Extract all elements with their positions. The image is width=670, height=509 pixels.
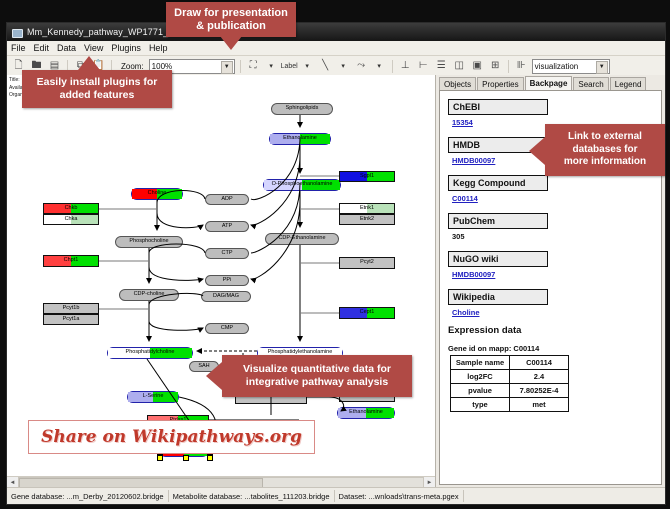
table-row: log2FC2.4: [451, 370, 569, 384]
callout-line: added features: [60, 89, 135, 102]
menu-item-view[interactable]: View: [84, 43, 103, 53]
pathway-edges: [7, 75, 435, 477]
menu-item-help[interactable]: Help: [149, 43, 168, 53]
callout-line: databases for: [572, 144, 637, 157]
align-left-icon[interactable]: ⊢: [416, 59, 431, 74]
share-text: Share on Wikipathways.org: [41, 427, 302, 447]
expression-value: 7.80252E-4: [510, 384, 569, 398]
gene-id-label: Gene id on mapp: C00114: [448, 344, 661, 353]
node-label: L-Serine: [143, 394, 164, 400]
node-label: CDP-Ethanolamine: [278, 236, 325, 242]
callout-link-arrow-icon: [529, 137, 545, 165]
callout-share-on-wikipathways: Share on Wikipathways.org: [28, 420, 315, 454]
expression-value: met: [510, 398, 569, 412]
menu-item-plugins[interactable]: Plugins: [111, 43, 141, 53]
callout-line: Draw for presentation: [174, 7, 288, 20]
node-label: DAG/MAG: [213, 294, 239, 300]
status-metabolite-database: Metabolite database: ...tabolites_111203…: [169, 490, 335, 502]
callout-line: Link to external: [568, 131, 642, 144]
node-label: Etnk2: [360, 217, 374, 223]
toolbar-separator-4: [392, 60, 393, 73]
callout-plugins-arrow-icon: [78, 56, 100, 70]
node-label: Phosphatidylcholine: [126, 350, 175, 356]
node-label: PPi: [223, 278, 232, 284]
node-label: Cept1: [360, 310, 375, 316]
datanode-icon[interactable]: ⛶: [246, 59, 261, 74]
database-value-wikipedia[interactable]: Choline: [452, 308, 661, 317]
callout-draw-for-presentation: Draw for presentation& publication: [166, 2, 296, 37]
visualization-value: visualization: [535, 62, 579, 71]
tab-search[interactable]: Search: [573, 77, 608, 90]
database-header-kegg-compound: Kegg Compound: [448, 175, 548, 191]
node-label: ADP: [221, 197, 232, 203]
node-label: Ethanolamine: [349, 410, 383, 416]
datanode-dropdown-icon[interactable]: ▾: [264, 59, 279, 74]
tab-objects[interactable]: Objects: [439, 77, 476, 90]
database-value-nugo-wiki[interactable]: HMDB00097: [452, 270, 661, 279]
selection-handle[interactable]: [157, 455, 163, 461]
window-title-bar: Mm_Kennedy_pathway_WP1771_45176.gpml: [7, 23, 665, 41]
expression-key: type: [451, 398, 510, 412]
callout-easily-install-plugins: Easily install plugins foradded features: [22, 70, 172, 108]
callout-draw-arrow-icon: [220, 36, 242, 50]
side-panel-tabs: ObjectsPropertiesBackpageSearchLegend: [436, 75, 665, 90]
node-label: Sphingolipids: [286, 106, 319, 112]
menu-item-edit[interactable]: Edit: [34, 43, 50, 53]
node-label: Sgpl1: [360, 174, 374, 180]
callout-line: Visualize quantitative data for: [243, 363, 391, 376]
callout-line: integrative pathway analysis: [246, 376, 388, 389]
database-value-kegg-compound[interactable]: C00114: [452, 194, 661, 203]
expression-data-heading: Expression data: [448, 325, 661, 336]
menu-item-data[interactable]: Data: [57, 43, 76, 53]
callout-visualize-arrow-icon: [206, 362, 222, 390]
node-label: Choline: [148, 191, 167, 197]
node-label: Pcyt1b: [63, 306, 80, 312]
table-row: pvalue7.80252E-4: [451, 384, 569, 398]
menu-item-file[interactable]: File: [11, 43, 26, 53]
node-label: CMP: [221, 326, 233, 332]
expression-key: pvalue: [451, 384, 510, 398]
database-header-pubchem: PubChem: [448, 213, 548, 229]
pathvisio-icon: [11, 27, 22, 38]
expression-value: 2.4: [510, 370, 569, 384]
line-dropdown-icon[interactable]: ▾: [336, 59, 351, 74]
table-row: Sample nameC00114: [451, 356, 569, 370]
expression-key: log2FC: [451, 370, 510, 384]
callout-line: Easily install plugins for: [37, 76, 158, 89]
database-value-pubchem: 305: [452, 232, 661, 241]
interaction-dropdown-icon[interactable]: ▾: [372, 59, 387, 74]
tab-properties[interactable]: Properties: [477, 77, 523, 90]
expression-key: Sample name: [451, 356, 510, 370]
node-label: CTP: [222, 251, 233, 257]
pathway-canvas[interactable]: Title: Availa Organi: [7, 75, 435, 477]
chevron-down-icon[interactable]: ▼: [596, 61, 608, 74]
node-label: Ethanolamine: [283, 136, 317, 142]
node-label: Chpt1: [64, 258, 79, 264]
interaction-tool-icon[interactable]: ⤳: [354, 59, 369, 74]
table-row: typemet: [451, 398, 569, 412]
tab-backpage[interactable]: Backpage: [525, 76, 573, 90]
callout-line: more information: [564, 156, 646, 169]
node-label: Pcyt2: [360, 260, 374, 266]
visualization-icon[interactable]: ⊪: [514, 59, 529, 74]
node-label: Phosphocholine: [129, 239, 168, 245]
label-tool-button[interactable]: Label: [282, 59, 297, 74]
tab-legend[interactable]: Legend: [610, 77, 647, 90]
database-header-chebi: ChEBI: [448, 99, 548, 115]
callout-visualize-quantitative-data: Visualize quantitative data forintegrati…: [222, 355, 412, 397]
node-label: Pcyt1a: [63, 317, 80, 323]
layout-icon[interactable]: ⊞: [488, 59, 503, 74]
database-header-nugo-wiki: NuGO wiki: [448, 251, 548, 267]
node-label: Etnk1: [360, 206, 374, 212]
toolbar-separator-5: [508, 60, 509, 73]
label-dropdown-icon[interactable]: ▾: [300, 59, 315, 74]
node-label: ATP: [222, 224, 232, 230]
callout-link-external-databases: Link to externaldatabases formore inform…: [545, 124, 665, 176]
toolbar-separator-3: [240, 60, 241, 73]
callout-line: & publication: [196, 20, 266, 33]
expression-table: Sample nameC00114log2FC2.4pvalue7.80252E…: [450, 355, 569, 412]
expression-value: C00114: [510, 356, 569, 370]
database-header-wikipedia: Wikipedia: [448, 289, 548, 305]
visualization-combobox[interactable]: visualization ▼: [532, 59, 610, 74]
node-label: Chka: [65, 217, 78, 223]
node-label: Chkb: [65, 206, 78, 212]
align-center-icon[interactable]: ⊥: [398, 59, 413, 74]
line-tool-icon[interactable]: ╲: [318, 59, 333, 74]
selection-handle[interactable]: [183, 455, 189, 461]
stack-icon[interactable]: ☰: [434, 59, 449, 74]
distribute-icon[interactable]: ◫: [452, 59, 467, 74]
status-bar: Gene database: ...m_Derby_20120602.bridg…: [7, 487, 665, 504]
selection-handle[interactable]: [207, 455, 213, 461]
node-label: O-Phosphoethanolamine: [272, 182, 333, 188]
status-dataset: Dataset: ...wnloads\trans-meta.pgex: [335, 490, 464, 502]
menu-bar: File Edit Data View Plugins Help: [7, 41, 665, 56]
chevron-down-icon[interactable]: ▼: [221, 61, 233, 74]
node-label: CDP-choline: [134, 292, 165, 298]
group-icon[interactable]: ▣: [470, 59, 485, 74]
status-gene-database: Gene database: ...m_Derby_20120602.bridg…: [7, 490, 169, 502]
